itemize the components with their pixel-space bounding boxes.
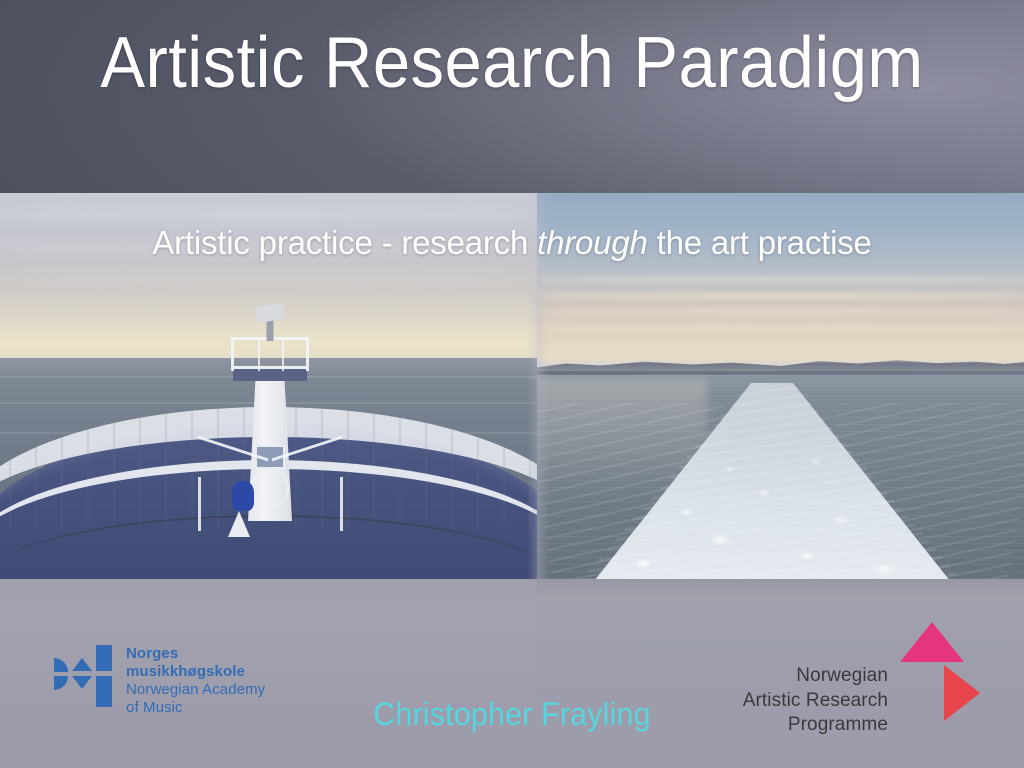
- gangway-post: [198, 477, 201, 531]
- cloud-streak: [537, 325, 1024, 332]
- cloud-band: [0, 207, 540, 223]
- mast-railing: [231, 337, 309, 371]
- triangle-up-icon: [900, 622, 964, 662]
- subtitle-text-after: the art practise: [648, 224, 872, 261]
- cloud-streak: [537, 309, 1024, 314]
- page-title: Artistic Research Paradigm: [36, 26, 988, 102]
- cloud-streak: [537, 343, 1024, 349]
- cloud-band: [0, 273, 540, 284]
- blue-deck-cover: [232, 481, 254, 511]
- cloud-streak: [537, 293, 1024, 299]
- subtitle-emphasis: through: [537, 224, 648, 261]
- nmh-name-no-line2: musikkhøgskole: [126, 663, 265, 681]
- presenter-name: Christopher Frayling: [26, 696, 999, 733]
- subtitle-text-before: Artistic practice - research: [152, 224, 537, 261]
- cloud-streak: [537, 277, 1024, 282]
- nmh-name-no-line1: Norges: [126, 645, 265, 663]
- slide-subtitle: Artistic practice - research through the…: [0, 224, 1024, 262]
- narp-line1: Norwegian: [743, 664, 888, 689]
- gangway-post: [340, 477, 343, 531]
- presentation-slide: Artistic Research Paradigm: [0, 0, 1024, 768]
